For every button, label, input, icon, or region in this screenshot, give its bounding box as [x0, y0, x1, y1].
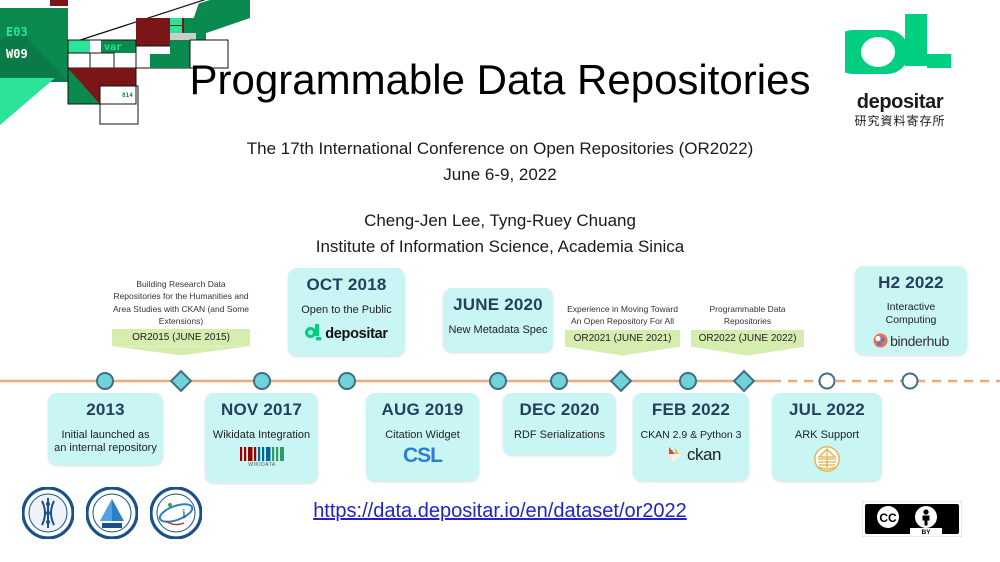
binderhub-logo: binderhub [860, 333, 962, 349]
ckan-logo-text: ckan [687, 445, 721, 465]
csl-logo: CSL [372, 444, 473, 468]
slide: E03 W09 var 814 depositar 研究資料寄存所 Progra… [0, 0, 1000, 562]
card-description: RDF Serializations [509, 429, 610, 443]
timeline-axis [0, 367, 1000, 395]
conference-dates: June 6-9, 2022 [0, 162, 1000, 188]
card-date: NOV 2017 [211, 401, 312, 420]
timeline-card-nov-2017[interactable]: NOV 2017 Wikidata Integration WIKIDATA [205, 393, 318, 483]
entry-text: Experience in Moving Toward An Open Repo… [565, 303, 680, 328]
dataset-url-link[interactable]: https://data.depositar.io/en/dataset/or2… [0, 500, 1000, 523]
timeline-card-jul-2022[interactable]: JUL 2022 ARK Support [772, 393, 882, 481]
author-names: Cheng-Jen Lee, Tyng-Ruey Chuang [0, 208, 1000, 234]
entry-tag: OR2021 (JUNE 2021) [565, 330, 680, 347]
cc-by-license-badge[interactable]: CC BY [862, 501, 962, 542]
timeline-card-feb-2022[interactable]: FEB 2022 CKAN 2.9 & Python 3 ckan [633, 393, 749, 481]
timeline-card-2013[interactable]: 2013 Initial launched as an internal rep… [48, 393, 163, 465]
svg-text:BY: BY [921, 529, 931, 536]
ckan-logo: ckan [638, 445, 744, 465]
binderhub-logo-text: binderhub [890, 333, 949, 349]
depositar-logo: depositar [294, 324, 399, 343]
card-description: Citation Widget [372, 429, 473, 443]
author-affiliation: Institute of Information Science, Academ… [0, 234, 1000, 260]
timeline-card-aug-2019[interactable]: AUG 2019 Citation Widget CSL [366, 393, 479, 481]
svg-text:WIKIDATA: WIKIDATA [248, 462, 276, 466]
card-date: AUG 2019 [372, 401, 473, 420]
entry-tag: OR2022 (JUNE 2022) [691, 330, 804, 347]
timeline-entry-or2021: Experience in Moving Toward An Open Repo… [565, 303, 680, 347]
card-date: FEB 2022 [638, 401, 744, 420]
brand-wordmark-cjk: 研究資料寄存所 [836, 115, 964, 127]
card-description: Open to the Public [294, 304, 399, 318]
card-description: Interactive Computing [860, 301, 962, 327]
entry-text: Programmable Data Repositories [691, 303, 804, 328]
card-date: OCT 2018 [294, 276, 399, 295]
card-date: JUNE 2020 [448, 296, 548, 315]
card-description: Initial launched as an internal reposito… [54, 429, 157, 457]
depositar-logo-text: depositar [325, 326, 388, 342]
authors-block: Cheng-Jen Lee, Tyng-Ruey Chuang Institut… [0, 208, 1000, 261]
timeline-card-dec-2020[interactable]: DEC 2020 RDF Serializations [503, 393, 616, 455]
svg-text:E03: E03 [6, 25, 28, 39]
timeline-card-oct-2018[interactable]: OCT 2018 Open to the Public depositar [288, 268, 405, 356]
card-date: 2013 [54, 401, 157, 420]
entry-text: Building Research Data Repositories for … [112, 278, 250, 327]
card-date: H2 2022 [860, 274, 962, 293]
wikidata-logo: WIKIDATA [211, 447, 312, 471]
conference-subtitle: The 17th International Conference on Ope… [0, 136, 1000, 189]
svg-text:var: var [104, 42, 122, 53]
ark-logo [777, 446, 877, 477]
timeline-card-june-2020[interactable]: JUNE 2020 New Metadata Spec [443, 288, 553, 352]
svg-text:CC: CC [879, 511, 897, 525]
entry-tag: OR2015 (JUNE 2015) [112, 329, 250, 346]
timeline-card-h2-2022[interactable]: H2 2022 Interactive Computing binderhub [855, 266, 967, 355]
card-description: Wikidata Integration [211, 429, 312, 443]
timeline-entry-or2015: Building Research Data Repositories for … [112, 278, 250, 346]
page-title: Programmable Data Repositories [0, 57, 1000, 103]
card-description: New Metadata Spec [448, 324, 548, 338]
conference-name: The 17th International Conference on Ope… [0, 136, 1000, 162]
card-description: CKAN 2.9 & Python 3 [638, 429, 744, 442]
card-date: DEC 2020 [509, 401, 610, 420]
timeline-entry-or2022: Programmable Data Repositories OR2022 (J… [691, 303, 804, 347]
csl-logo-text: CSL [403, 444, 442, 468]
card-date: JUL 2022 [777, 401, 877, 420]
card-description: ARK Support [777, 429, 877, 443]
